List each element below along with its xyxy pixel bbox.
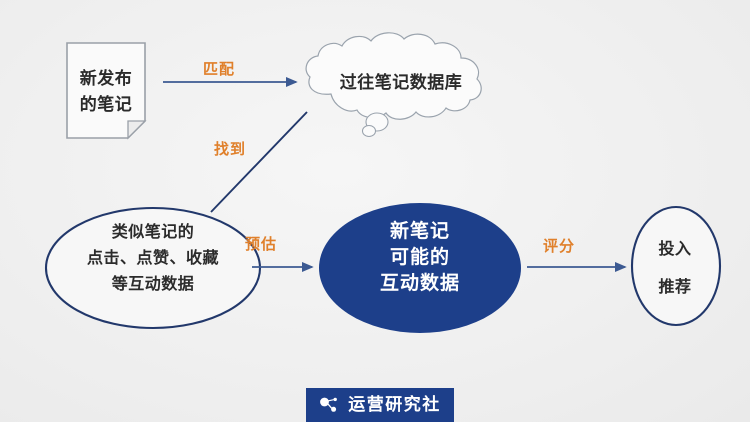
slide-canvas: 新发布 的笔记 过往笔记数据库 类似笔记的 点击、点赞、收藏 等互动数据 新笔记… [0, 0, 750, 422]
ellipse-right-label: 投入 推荐 [625, 235, 725, 297]
ellipse-center-line-3: 互动数据 [380, 274, 460, 294]
ellipse-left-line-2: 点击、点赞、收藏 [87, 250, 219, 267]
ellipse-left-line-1: 类似笔记的 [112, 224, 195, 241]
connected-nodes-icon [319, 396, 340, 414]
connector-find [211, 112, 307, 212]
ellipse-left-label: 类似笔记的 点击、点赞、收藏 等互动数据 [45, 224, 261, 292]
edge-label-match: 匹配 [203, 58, 235, 79]
brand-logo-badge: 运营研究社 [306, 388, 454, 422]
document-label-line-1: 新发布 [80, 70, 133, 89]
ellipse-left-line-3: 等互动数据 [112, 276, 195, 293]
cloud-label: 过往笔记数据库 [306, 68, 496, 93]
edge-label-find: 找到 [214, 138, 246, 159]
ellipse-center-line-1: 新笔记 [390, 222, 450, 242]
document-label: 新发布 的笔记 [64, 46, 148, 138]
ellipse-right-line-2: 推荐 [658, 273, 691, 297]
ellipse-center-label: 新笔记 可能的 互动数据 [315, 222, 525, 294]
edge-label-score: 评分 [543, 235, 575, 256]
brand-logo-text: 运营研究社 [348, 397, 441, 414]
edge-label-estimate: 预估 [245, 233, 277, 254]
ellipse-center-line-2: 可能的 [390, 248, 450, 268]
ellipse-right-line-1: 投入 [658, 235, 691, 259]
document-label-line-2: 的笔记 [80, 96, 133, 115]
